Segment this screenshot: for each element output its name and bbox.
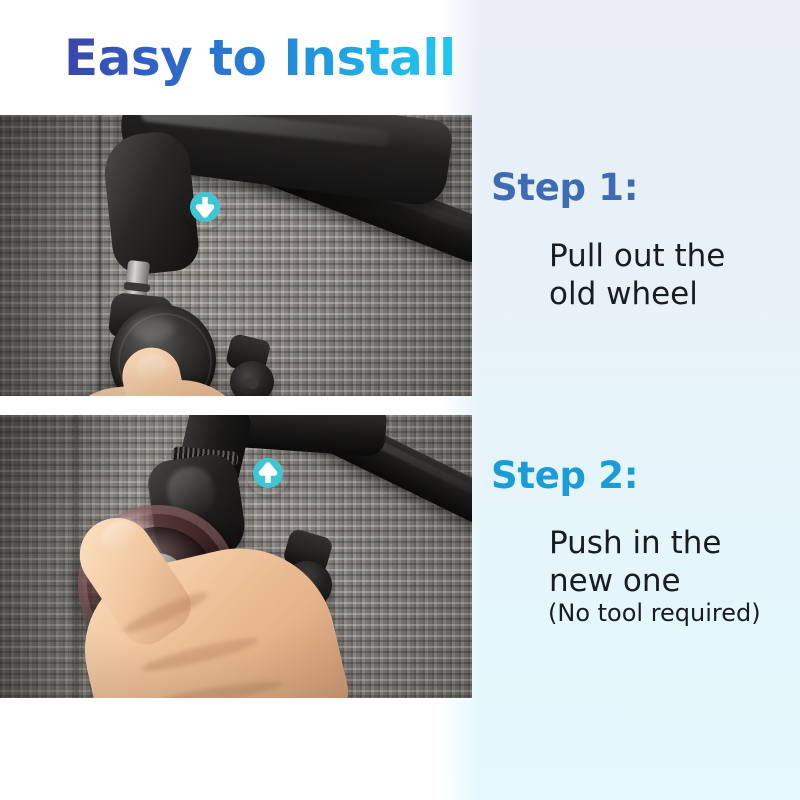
step-2-body: Push in the new one [549,524,721,600]
arrow-down-icon [183,185,227,229]
page-title: Easy to Install [64,28,456,88]
photo-vignette [0,415,472,698]
step-1-photo [0,115,472,396]
step-2-photo [0,415,472,698]
photo-vignette [0,115,472,396]
step-2-note: (No tool required) [548,598,761,628]
step-2-heading: Step 2: [491,454,638,497]
step-1-body: Pull out the old wheel [549,237,725,313]
poster-root: Easy to Install [0,0,800,800]
arrow-up-icon [246,451,290,495]
step-1-heading: Step 1: [491,166,638,209]
